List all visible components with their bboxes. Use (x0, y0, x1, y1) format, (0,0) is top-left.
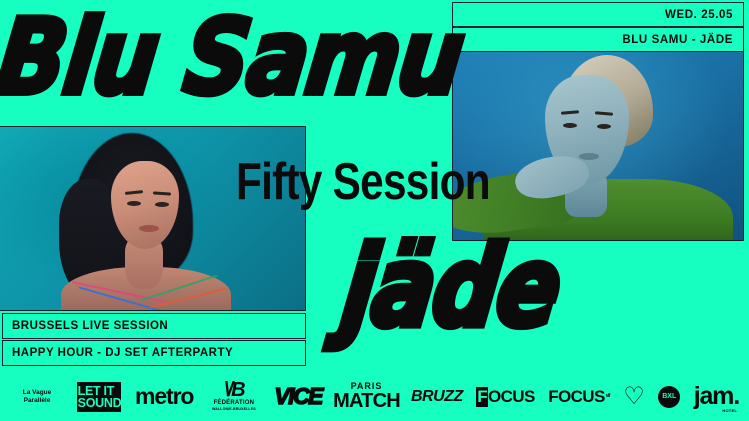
logo-focus-text: OCUS (488, 387, 535, 407)
logo-la-vague-parallele[interactable]: La Vague Parallèle (10, 389, 64, 405)
lips-icon (579, 153, 599, 160)
event-name-fifty-session: Fifty Session (236, 153, 490, 209)
date-bar: WED. 25.05 (452, 2, 744, 27)
brow-right-icon (595, 111, 613, 116)
logo-bruzz[interactable]: BRUZZ (411, 388, 463, 406)
lineup-bar: BLU SAMU - JÄDE (452, 27, 744, 52)
eye-right-icon (597, 124, 611, 129)
logo-focus-vif-sub: vif (606, 394, 610, 399)
logo-lis-line2: SOUND (78, 397, 122, 409)
logo-lis-line1: LET IT (78, 385, 122, 397)
poster-canvas: Blu Samu Fifty Session jäde WED. 25.05 B… (0, 0, 749, 421)
logo-focus[interactable]: FOCUS (476, 387, 535, 407)
logo-fed-line2: WALLONIE-BRUXELLES (212, 407, 256, 412)
logo-focus-prefix: F (476, 387, 488, 407)
logo-la-vague-line2: Parallèle (23, 397, 52, 405)
logo-jam-sub: HOTEL (722, 408, 737, 413)
logo-focus-vif-text: FOCUS (548, 387, 605, 407)
afterparty-bar: HAPPY HOUR - DJ SET AFTERPARTY (2, 340, 306, 366)
brow-right-icon (153, 191, 171, 195)
afterparty-label: HAPPY HOUR - DJ SET AFTERPARTY (12, 347, 233, 359)
logo-paris-match[interactable]: PARIS MATCH (336, 382, 398, 411)
logo-vice[interactable]: VICE (274, 383, 322, 410)
logo-focus-vif[interactable]: FOCUS vif (548, 387, 610, 407)
photo-jade (452, 48, 744, 241)
eye-left-icon (563, 123, 577, 128)
session-bar: BRUSSELS LIVE SESSION (2, 313, 306, 339)
logo-fed-line1: FÉDÉRATION (212, 400, 256, 407)
lineup-label: BLU SAMU - JÄDE (622, 34, 733, 46)
brow-left-icon (561, 110, 579, 115)
brow-left-icon (125, 190, 143, 195)
logo-paris-match-line2: MATCH (333, 391, 400, 411)
logo-jam-hotel[interactable]: jam. HOTEL (694, 382, 739, 411)
eye-right-icon (155, 202, 169, 207)
sponsor-logo-strip: La Vague Parallèle LET IT SOUND metro \/… (0, 372, 749, 421)
page-title-blu-samu: Blu Samu (0, 0, 469, 119)
lips-icon (139, 225, 159, 232)
heart-icon[interactable]: ♡ (623, 386, 645, 408)
logo-federation-wallonie-bruxelles[interactable]: \/B FÉDÉRATION WALLONIE-BRUXELLES (207, 381, 261, 412)
date-label: WED. 25.05 (665, 9, 733, 21)
page-title-jade: jäde (336, 222, 567, 354)
eye-left-icon (127, 201, 141, 206)
session-label: BRUSSELS LIVE SESSION (12, 320, 168, 332)
logo-fed-mark: \/B (212, 381, 256, 400)
logo-bxl[interactable]: BXL (658, 386, 680, 408)
logo-la-vague-line1: La Vague (23, 389, 52, 397)
logo-metro[interactable]: metro (135, 383, 193, 410)
logo-jam-text: jam. (694, 382, 739, 411)
logo-let-it-sound[interactable]: LET IT SOUND (77, 382, 121, 412)
